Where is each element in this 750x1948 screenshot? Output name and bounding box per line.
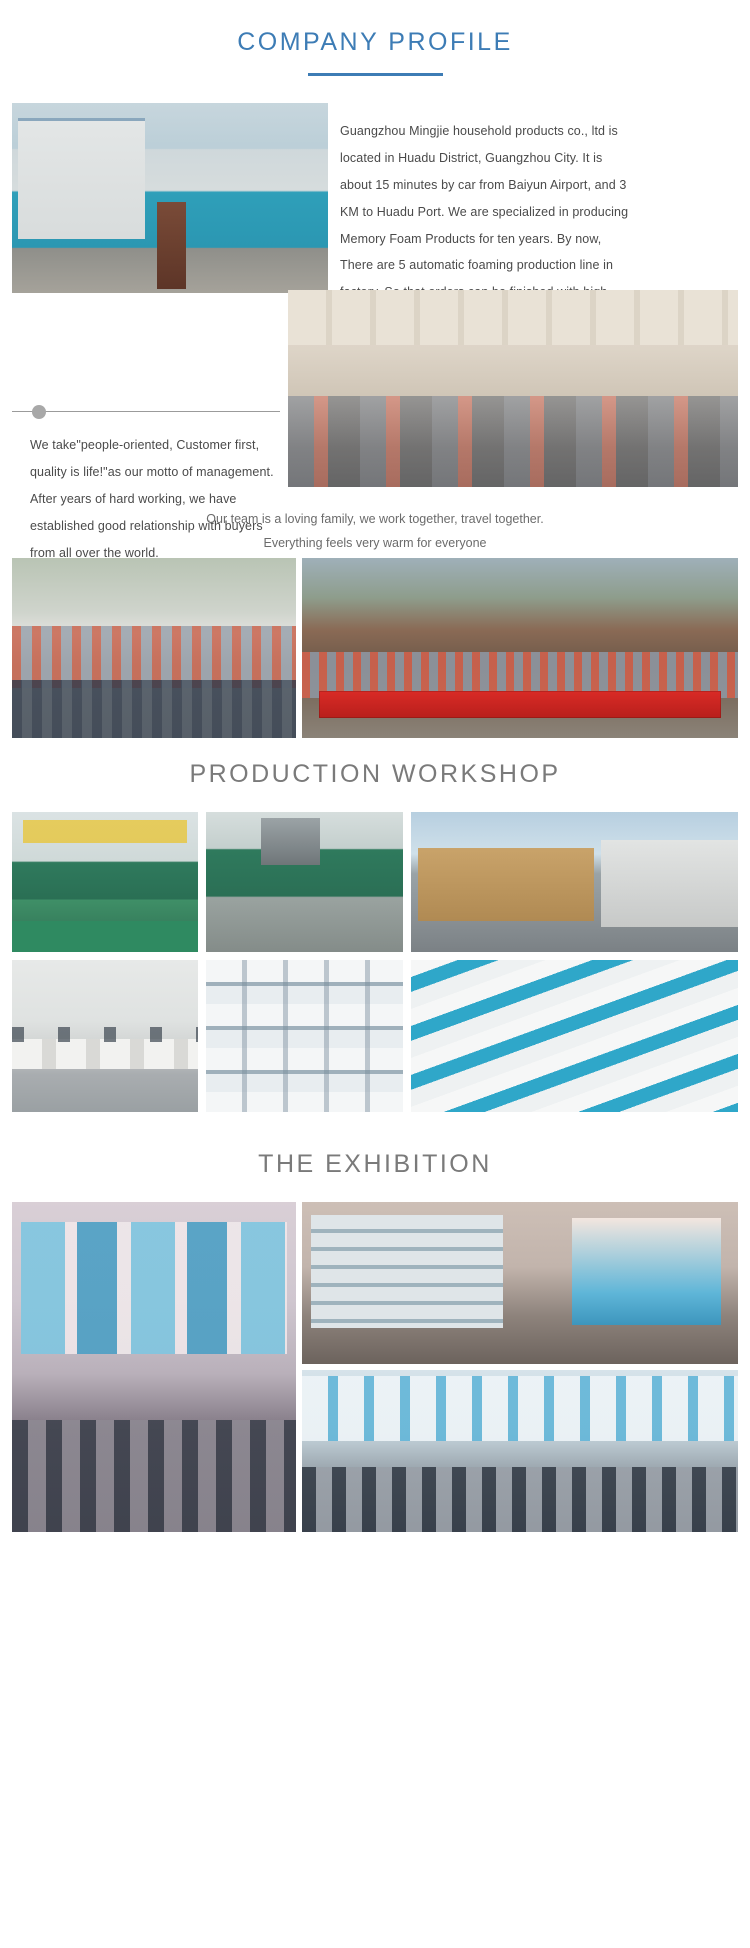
team-group-photo	[12, 558, 296, 738]
company-profile-heading-block: COMPANY PROFILE	[0, 28, 750, 76]
team-caption-block: Our team is a loving family, we work tog…	[0, 508, 750, 556]
production-workshop-heading-block: PRODUCTION WORKSHOP	[0, 760, 750, 789]
exhibition-booth-visitors-photo	[302, 1370, 738, 1532]
exhibition-title: THE EXHIBITION	[0, 1150, 750, 1179]
container-loading-photo	[411, 812, 738, 952]
production-workshop-title: PRODUCTION WORKSHOP	[0, 760, 750, 789]
exhibition-booth-main-photo	[12, 1202, 296, 1532]
factory-exterior-photo	[12, 103, 328, 293]
divider-knob-icon	[32, 405, 46, 419]
section-divider	[12, 405, 280, 419]
exhibition-heading-block: THE EXHIBITION	[0, 1150, 750, 1179]
page-title: COMPANY PROFILE	[0, 28, 750, 57]
team-caption-line-1: Our team is a loving family, we work tog…	[0, 508, 750, 532]
team-outing-photo	[302, 558, 738, 738]
foaming-production-line-photo	[12, 812, 198, 952]
divider-line	[12, 411, 280, 412]
title-underline-rule	[308, 73, 443, 76]
gel-memory-foam-pillows-photo	[411, 960, 738, 1112]
team-caption-line-2: Everything feels very warm for everyone	[0, 532, 750, 556]
foaming-machine-photo	[206, 812, 403, 952]
company-profile-page: COMPANY PROFILE Guangzhou Mingjie househ…	[0, 0, 750, 1948]
exhibition-booth-display-photo	[302, 1202, 738, 1364]
sewing-workshop-photo	[12, 960, 198, 1112]
pillow-storage-rack-photo	[206, 960, 403, 1112]
office-workers-photo	[288, 290, 738, 487]
